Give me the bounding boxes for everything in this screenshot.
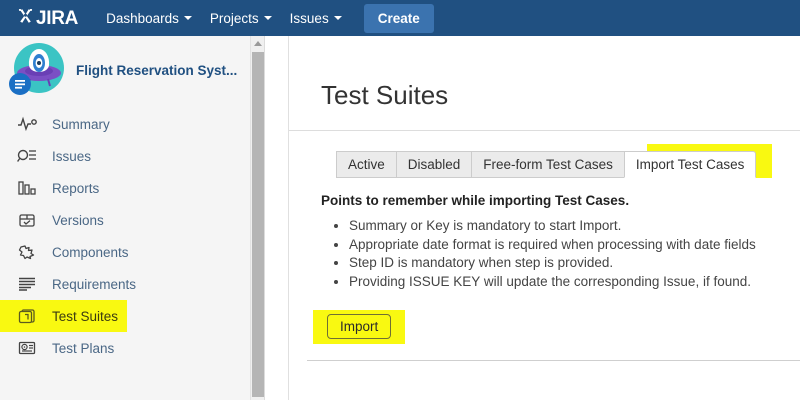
document-lines-icon bbox=[16, 273, 38, 295]
list-item: Summary or Key is mandatory to start Imp… bbox=[349, 217, 800, 235]
nav-item-issues[interactable]: Issues bbox=[281, 4, 351, 33]
sidebar-item-versions[interactable]: Versions bbox=[0, 204, 264, 236]
sidebar-item-issues-label: Issues bbox=[52, 149, 91, 164]
sidebar-item-issues[interactable]: Issues bbox=[0, 140, 264, 172]
top-nav-items: Dashboards Projects Issues Create bbox=[97, 4, 434, 33]
tab-disabled[interactable]: Disabled bbox=[396, 151, 472, 178]
project-sidebar: Flight Reservation Syst... Summary bbox=[0, 36, 265, 400]
sidebar-item-test-plans[interactable]: Test Plans bbox=[0, 332, 264, 364]
sidebar-nav-list: Summary Issues bbox=[0, 108, 264, 364]
sidebar-item-summary[interactable]: Summary bbox=[0, 108, 264, 140]
sidebar-item-components-label: Components bbox=[52, 245, 129, 260]
tab-active[interactable]: Active bbox=[336, 151, 396, 178]
sidebar-item-test-suites-label: Test Suites bbox=[52, 309, 118, 324]
list-item: Providing ISSUE KEY will update the corr… bbox=[349, 273, 800, 291]
project-header[interactable]: Flight Reservation Syst... bbox=[0, 36, 264, 104]
search-list-icon bbox=[16, 145, 38, 167]
nav-item-dashboards-label: Dashboards bbox=[106, 11, 179, 26]
create-button[interactable]: Create bbox=[364, 4, 434, 33]
nav-item-projects-label: Projects bbox=[210, 11, 259, 26]
project-avatar-ufo-icon bbox=[8, 40, 68, 100]
import-button[interactable]: Import bbox=[327, 314, 391, 339]
chevron-down-icon bbox=[264, 16, 272, 20]
chevron-down-icon bbox=[184, 16, 192, 20]
top-navigation-bar: JIRA Dashboards Projects Issues Create bbox=[0, 0, 800, 36]
jira-project-page: JIRA Dashboards Projects Issues Create bbox=[0, 0, 800, 400]
page-title: Test Suites bbox=[321, 80, 800, 111]
tab-bar: Active Disabled Free-form Test Cases Imp… bbox=[336, 151, 800, 178]
test-suite-icon bbox=[16, 305, 38, 327]
bar-chart-icon bbox=[16, 177, 38, 199]
avatar bbox=[8, 40, 68, 100]
title-divider bbox=[289, 130, 800, 131]
content-bottom-divider bbox=[307, 360, 800, 361]
sidebar-item-reports-label: Reports bbox=[52, 181, 99, 196]
sidebar-item-components[interactable]: Components bbox=[0, 236, 264, 268]
scrollbar-thumb[interactable] bbox=[252, 52, 264, 397]
sidebar-item-requirements[interactable]: Requirements bbox=[0, 268, 264, 300]
jira-logo-text: JIRA bbox=[36, 9, 78, 28]
sidebar-item-versions-label: Versions bbox=[52, 213, 104, 228]
sidebar-item-test-suites[interactable]: Test Suites bbox=[0, 300, 127, 332]
tab-import-test-cases[interactable]: Import Test Cases bbox=[624, 151, 757, 178]
sidebar-item-reports[interactable]: Reports bbox=[0, 172, 264, 204]
list-item: Appropriate date format is required when… bbox=[349, 236, 800, 254]
list-item: Step ID is mandatory when step is provid… bbox=[349, 254, 800, 272]
jira-logo[interactable]: JIRA bbox=[17, 0, 78, 36]
puzzle-piece-icon bbox=[16, 241, 38, 263]
import-button-area: Import bbox=[313, 310, 405, 344]
sidebar-item-summary-label: Summary bbox=[52, 117, 110, 132]
jira-logo-icon bbox=[17, 9, 34, 27]
activity-pulse-icon bbox=[16, 113, 38, 135]
test-plan-card-icon bbox=[16, 337, 38, 359]
tab-free-form-test-cases[interactable]: Free-form Test Cases bbox=[471, 151, 624, 178]
nav-item-projects[interactable]: Projects bbox=[201, 4, 281, 33]
points-heading: Points to remember while importing Test … bbox=[321, 193, 800, 208]
nav-item-dashboards[interactable]: Dashboards bbox=[97, 4, 201, 33]
sidebar-item-test-plans-label: Test Plans bbox=[52, 341, 114, 356]
page-title: Flight Reservation Syst... bbox=[76, 63, 237, 78]
sidebar-scrollbar[interactable] bbox=[250, 36, 264, 400]
nav-item-issues-label: Issues bbox=[290, 11, 329, 26]
scroll-up-arrow-icon[interactable] bbox=[251, 36, 265, 50]
sidebar-item-requirements-label: Requirements bbox=[52, 277, 136, 292]
chevron-down-icon bbox=[334, 16, 342, 20]
main-content: Test Suites Active Disabled Free-form Te… bbox=[288, 36, 800, 400]
points-list: Summary or Key is mandatory to start Imp… bbox=[349, 217, 800, 290]
box-check-icon bbox=[16, 209, 38, 231]
